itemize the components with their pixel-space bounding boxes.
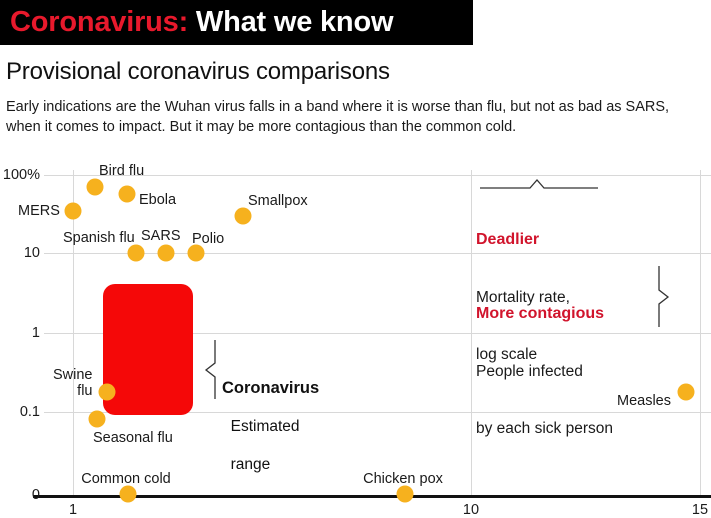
data-point [128,245,145,262]
data-point-label: Polio [192,231,224,247]
data-point-label: Spanish flu [63,230,135,246]
data-point [65,203,82,220]
callout-coronavirus-line1: Estimated [231,418,300,435]
data-point [397,486,414,503]
y-axis-tick-label: 100% [3,167,40,183]
data-point-label: Smallpox [248,193,308,209]
page-subtitle: Early indications are the Wuhan virus fa… [6,97,706,137]
data-point [119,186,136,203]
data-point [235,208,252,225]
coronavirus-estimated-range-box [103,284,193,415]
callout-contagious: More contagious People infected by each … [476,266,613,457]
y-axis-tick-label: 0.1 [20,404,40,420]
contagious-bracket-icon [655,266,673,328]
data-point [87,179,104,196]
data-point [188,245,205,262]
data-point-label: Chicken pox [363,471,443,487]
deadlier-bracket-icon [480,178,600,192]
y-axis-tick-label: 1 [32,325,40,341]
data-point-label: Bird flu [99,163,144,179]
data-point [678,384,695,401]
callout-coronavirus: Coronavirus Estimated range [222,341,319,474]
data-point-label: Common cold [81,471,170,487]
callout-deadlier-title: Deadlier [476,230,570,249]
data-point [89,411,106,428]
callout-contagious-line2: by each sick person [476,419,613,438]
data-point [120,486,137,503]
banner-title-white: What we know [188,6,393,39]
gridline-vertical [471,170,472,495]
data-point-label: SARS [141,228,181,244]
data-point-label: MERS [18,203,60,219]
y-axis-tick-label: 0 [32,487,40,503]
data-point-label: Ebola [139,192,176,208]
header-banner: Coronavirus: What we know [0,0,473,45]
page-title: Provisional coronavirus comparisons [6,58,390,86]
callout-contagious-title: More contagious [476,304,613,323]
banner-title-red: Coronavirus: [10,6,188,39]
data-point [99,384,116,401]
data-point-label: Measles [617,393,671,409]
data-point-label: Swine flu [53,367,93,399]
coronavirus-bracket-icon [203,340,219,400]
data-point [158,245,175,262]
gridline-vertical [700,170,701,495]
data-point-label: Seasonal flu [93,430,173,446]
callout-coronavirus-line2: range [231,456,271,473]
callout-coronavirus-title: Coronavirus [222,379,319,398]
y-axis-tick-label: 10 [24,245,40,261]
callout-contagious-line1: People infected [476,362,613,381]
